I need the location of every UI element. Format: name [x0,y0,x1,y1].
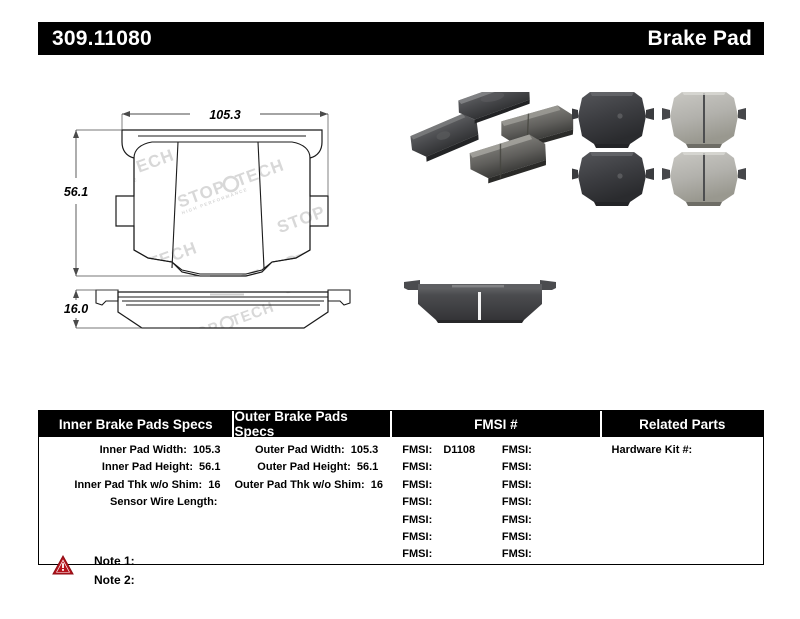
spec-row: Inner Pad Height: 56.1 [39,459,234,476]
brake-pad-set-angled-photo [408,92,578,207]
notes-text: Note 1: Note 2: [94,552,135,589]
specifications-table: Inner Brake Pads Specs Outer Brake Pads … [38,410,764,565]
table-header-row: Inner Brake Pads Specs Outer Brake Pads … [39,411,763,437]
fmsi-label: FMSI: [502,531,532,543]
spec-label: Inner Pad Thk w/o Shim: [74,479,202,491]
fmsi-label: FMSI: [402,444,432,456]
drawing-area: STOP TECH HIGH PERFORMANCE STOP TECH HIG… [0,70,800,390]
spec-row: Outer Pad Width: 105.3 [234,442,392,459]
spec-value: 16 [371,479,383,491]
related-part-row: Hardware Kit #: [602,442,763,459]
part-number: 309.11080 [52,28,152,49]
fmsi-row: FMSI: [402,546,502,563]
fmsi-label: FMSI: [402,514,432,526]
fmsi-row: FMSI: [502,529,602,546]
fmsi-label: FMSI: [402,479,432,491]
fmsi-row: FMSI: [502,546,602,563]
svg-text:TECH: TECH [113,332,161,363]
fmsi-label: FMSI: [502,461,532,473]
header-bar: 309.11080 Brake Pad [38,22,764,55]
thickness-dimension-label: 16.0 [64,302,88,316]
fmsi-row: FMSI: [502,442,602,459]
fmsi-row: FMSI: [502,459,602,476]
fmsi-label: FMSI: [502,496,532,508]
fmsi-row: FMSI: [502,494,602,511]
fmsi-label: FMSI: [502,514,532,526]
fmsi-label: FMSI: [402,461,432,473]
related-parts-cell: Hardware Kit #: [602,437,763,564]
table-body-row: Inner Pad Width: 105.3 Inner Pad Height:… [39,437,763,564]
column-header-related-parts: Related Parts [602,411,763,437]
fmsi-label: FMSI: [502,444,532,456]
inner-specs-cell: Inner Pad Width: 105.3 Inner Pad Height:… [39,437,234,564]
spec-value: 56.1 [199,461,220,473]
spec-label: Inner Pad Height: [102,461,193,473]
warning-triangle-icon [52,555,74,575]
notes-section: Note 1: Note 2: [52,552,135,589]
spec-value: 105.3 [193,444,221,456]
fmsi-label: FMSI: [402,496,432,508]
stoptech-watermark: STOP TECH HIGH PERFORMANCE STOP TECH HIG… [60,101,350,290]
spec-row: Sensor Wire Length: [39,494,234,511]
spec-value: 56.1 [357,461,378,473]
fmsi-label: FMSI: [502,548,532,560]
spec-row: Inner Pad Thk w/o Shim: 16 [39,477,234,494]
outer-specs-cell: Outer Pad Width: 105.3 Outer Pad Height:… [234,437,392,564]
fmsi-row: FMSI: D1108 [402,442,502,459]
height-dimension-label: 56.1 [64,185,88,199]
column-header-fmsi: FMSI # [392,411,601,437]
fmsi-row: FMSI: [402,512,502,529]
spec-label: Outer Pad Width: [255,444,345,456]
fmsi-value: D1108 [443,444,475,456]
fmsi-column-right: FMSI: FMSI: FMSI: FMSI: [502,442,602,564]
spec-label: Inner Pad Width: [100,444,187,456]
note-line: Note 1: [94,552,135,571]
svg-text:HIGH PERFORMANCE: HIGH PERFORMANCE [179,327,239,353]
spec-label: Outer Pad Height: [257,461,351,473]
brake-pad-side-view: TECH STOP TECH HIGH PERFORMANCE STOP [60,270,400,365]
fmsi-row: FMSI: [402,494,502,511]
spec-label: Sensor Wire Length: [110,496,217,508]
column-header-inner-specs: Inner Brake Pads Specs [39,411,234,437]
fmsi-row: FMSI: [402,477,502,494]
related-part-label: Hardware Kit #: [612,444,693,456]
brake-pad-front-view: STOP TECH HIGH PERFORMANCE STOP TECH HIG… [60,100,400,290]
fmsi-row: FMSI: [502,512,602,529]
page-title: Brake Pad [647,28,752,49]
fmsi-row: FMSI: [402,459,502,476]
brake-pad-edge-photo [396,270,566,340]
fmsi-label: FMSI: [402,548,432,560]
fmsi-label: FMSI: [402,531,432,543]
note-line: Note 2: [94,571,135,590]
spec-row: Outer Pad Height: 56.1 [234,459,392,476]
brake-pad-set-pairs-photo [572,82,752,210]
spec-value: 16 [208,479,220,491]
fmsi-column-left: FMSI: D1108 FMSI: FMSI: FMSI: [402,442,502,564]
spec-value: 105.3 [351,444,379,456]
spec-row: Inner Pad Width: 105.3 [39,442,234,459]
spec-label: Outer Pad Thk w/o Shim: [234,479,364,491]
column-header-outer-specs: Outer Brake Pads Specs [234,411,392,437]
fmsi-row: FMSI: [502,477,602,494]
fmsi-label: FMSI: [502,479,532,491]
width-dimension-label: 105.3 [209,108,240,122]
fmsi-cell: FMSI: D1108 FMSI: FMSI: FMSI: [392,437,601,564]
spec-row: Outer Pad Thk w/o Shim: 16 [234,477,392,494]
stoptech-watermark-side: TECH STOP TECH HIGH PERFORMANCE STOP [110,270,340,365]
fmsi-row: FMSI: [402,529,502,546]
